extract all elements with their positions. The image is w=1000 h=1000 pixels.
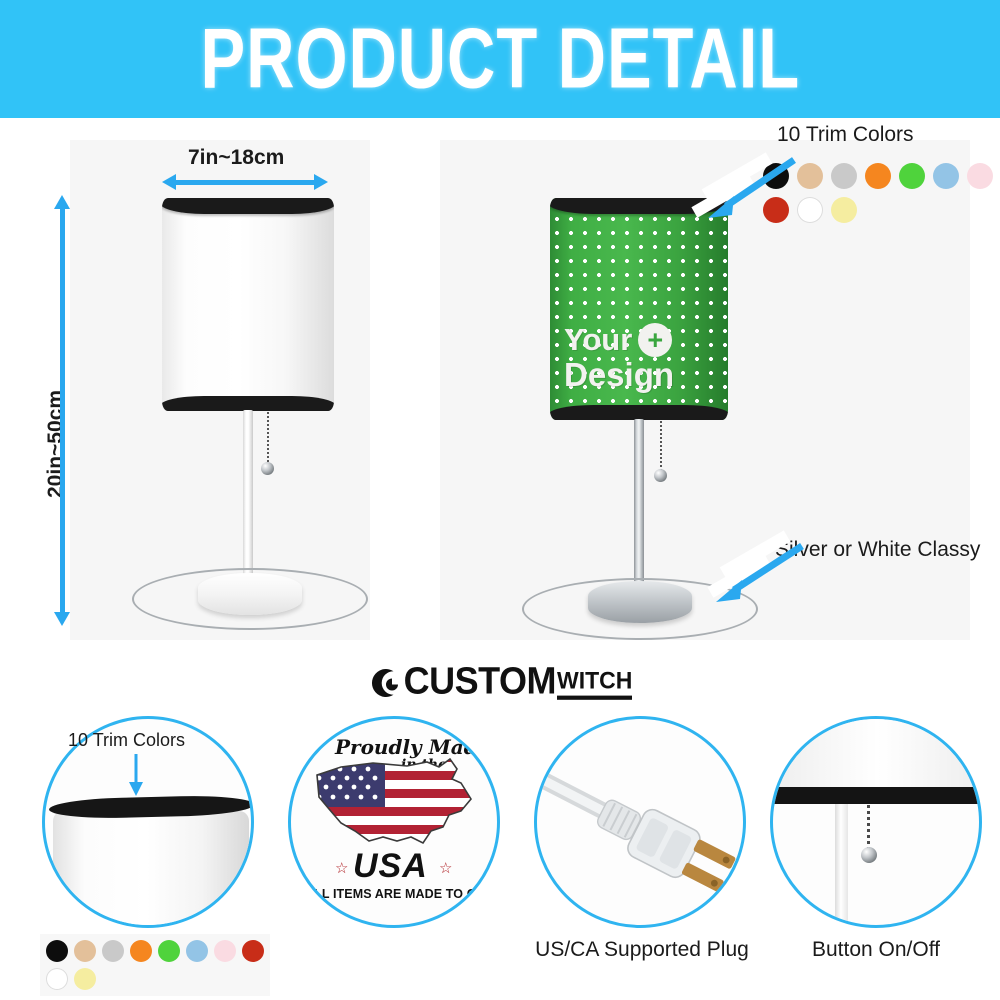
white-lamp-shade — [162, 198, 334, 411]
design-line-1: Your — [564, 324, 632, 356]
trim-swatch-gray[interactable] — [831, 163, 857, 189]
us-plug-icon — [537, 719, 746, 928]
feature-button-on-off: Button On/Off — [770, 716, 970, 1000]
height-dimension-arrow — [60, 208, 65, 613]
page-title: PRODUCT DETAIL — [200, 11, 800, 108]
usa-map-flag-icon — [311, 753, 483, 851]
white-lamp-pole — [243, 410, 253, 594]
usa-tagline: ALL ITEMS ARE MADE TO ORDER! — [305, 887, 500, 901]
green-lamp-base — [588, 581, 692, 623]
green-shade-bottom-trim — [550, 405, 728, 420]
trim-circle-shade-body — [53, 811, 249, 928]
header-banner: PRODUCT DETAIL — [0, 0, 1000, 118]
feature-trim-colors: 10 Trim Colors — [42, 716, 257, 1000]
green-lamp-shade: Your + Design — [550, 198, 728, 420]
trim-colors-down-arrow — [125, 754, 147, 798]
trim-swatch-pink[interactable] — [967, 163, 993, 189]
trim-colors-pointer-arrow — [690, 148, 810, 228]
usa-star-right-icon: ☆ — [439, 859, 452, 877]
white-shade-top-trim — [162, 198, 334, 214]
brand-name-main: CUSTOM — [404, 659, 556, 703]
white-lamp-base — [198, 573, 302, 615]
made-in-usa-circle: Proudly Made in the — [288, 716, 500, 928]
white-shade-surface — [162, 198, 334, 411]
design-plus-badge: + — [638, 323, 672, 357]
button-on-off-circle — [770, 716, 982, 928]
trim-swatch-tan[interactable] — [74, 940, 96, 962]
trim-swatch-black[interactable] — [46, 940, 68, 962]
base-finish-pointer-arrow — [700, 528, 820, 608]
feature-plug: US/CA Supported Plug — [524, 716, 760, 1000]
white-lamp — [120, 188, 380, 638]
white-shade-bottom-trim — [162, 396, 334, 411]
button-circle-chain-ball[interactable] — [861, 847, 877, 863]
green-lamp-chain-ball[interactable] — [654, 469, 667, 482]
button-circle-pull-chain[interactable] — [867, 805, 870, 851]
trim-swatch-red[interactable] — [242, 940, 264, 962]
green-shade-design-block: Your + Design — [564, 323, 714, 393]
white-lamp-chain-ball[interactable] — [261, 462, 274, 475]
white-lamp-pull-chain[interactable] — [267, 412, 269, 464]
trim-swatch-gray[interactable] — [102, 940, 124, 962]
usa-word: USA — [353, 847, 428, 886]
button-on-off-caption: Button On/Off — [766, 938, 986, 962]
design-line-2: Design — [564, 357, 714, 393]
product-stage: 7in~18cm 20in~50cm Your — [0, 118, 1000, 673]
brand-c-mark-icon — [368, 666, 402, 700]
trim-colors-swatches-bottom[interactable] — [40, 934, 270, 996]
trim-swatch-light-blue[interactable] — [933, 163, 959, 189]
button-circle-pole — [835, 804, 848, 928]
trim-swatch-orange[interactable] — [865, 163, 891, 189]
trim-swatch-yellow[interactable] — [831, 197, 857, 223]
brand-logo: CUSTOM WITCH — [0, 660, 1000, 702]
trim-swatch-orange[interactable] — [130, 940, 152, 962]
width-dimension-arrow — [175, 180, 315, 185]
feature-row: 10 Trim Colors Proudly Made in the — [0, 716, 1000, 1000]
trim-colors-label-top: 10 Trim Colors — [777, 123, 914, 147]
trim-swatch-pink[interactable] — [214, 940, 236, 962]
button-circle-black-trim — [770, 787, 982, 804]
trim-swatch-white[interactable] — [46, 968, 68, 990]
green-lamp-pole — [634, 419, 644, 603]
green-lamp-pull-chain[interactable] — [660, 421, 662, 471]
brand-name-sub: WITCH — [557, 666, 632, 700]
trim-swatch-green[interactable] — [899, 163, 925, 189]
trim-swatch-yellow[interactable] — [74, 968, 96, 990]
feature-made-in-usa: Proudly Made in the — [288, 716, 506, 1000]
trim-swatch-green[interactable] — [158, 940, 180, 962]
width-dimension-label: 7in~18cm — [188, 146, 284, 170]
button-circle-shade — [770, 716, 982, 791]
plug-circle — [534, 716, 746, 928]
trim-colors-inner-label: 10 Trim Colors — [68, 730, 185, 751]
plug-caption: US/CA Supported Plug — [524, 938, 760, 962]
trim-swatch-light-blue[interactable] — [186, 940, 208, 962]
usa-star-left-icon: ☆ — [335, 859, 348, 877]
